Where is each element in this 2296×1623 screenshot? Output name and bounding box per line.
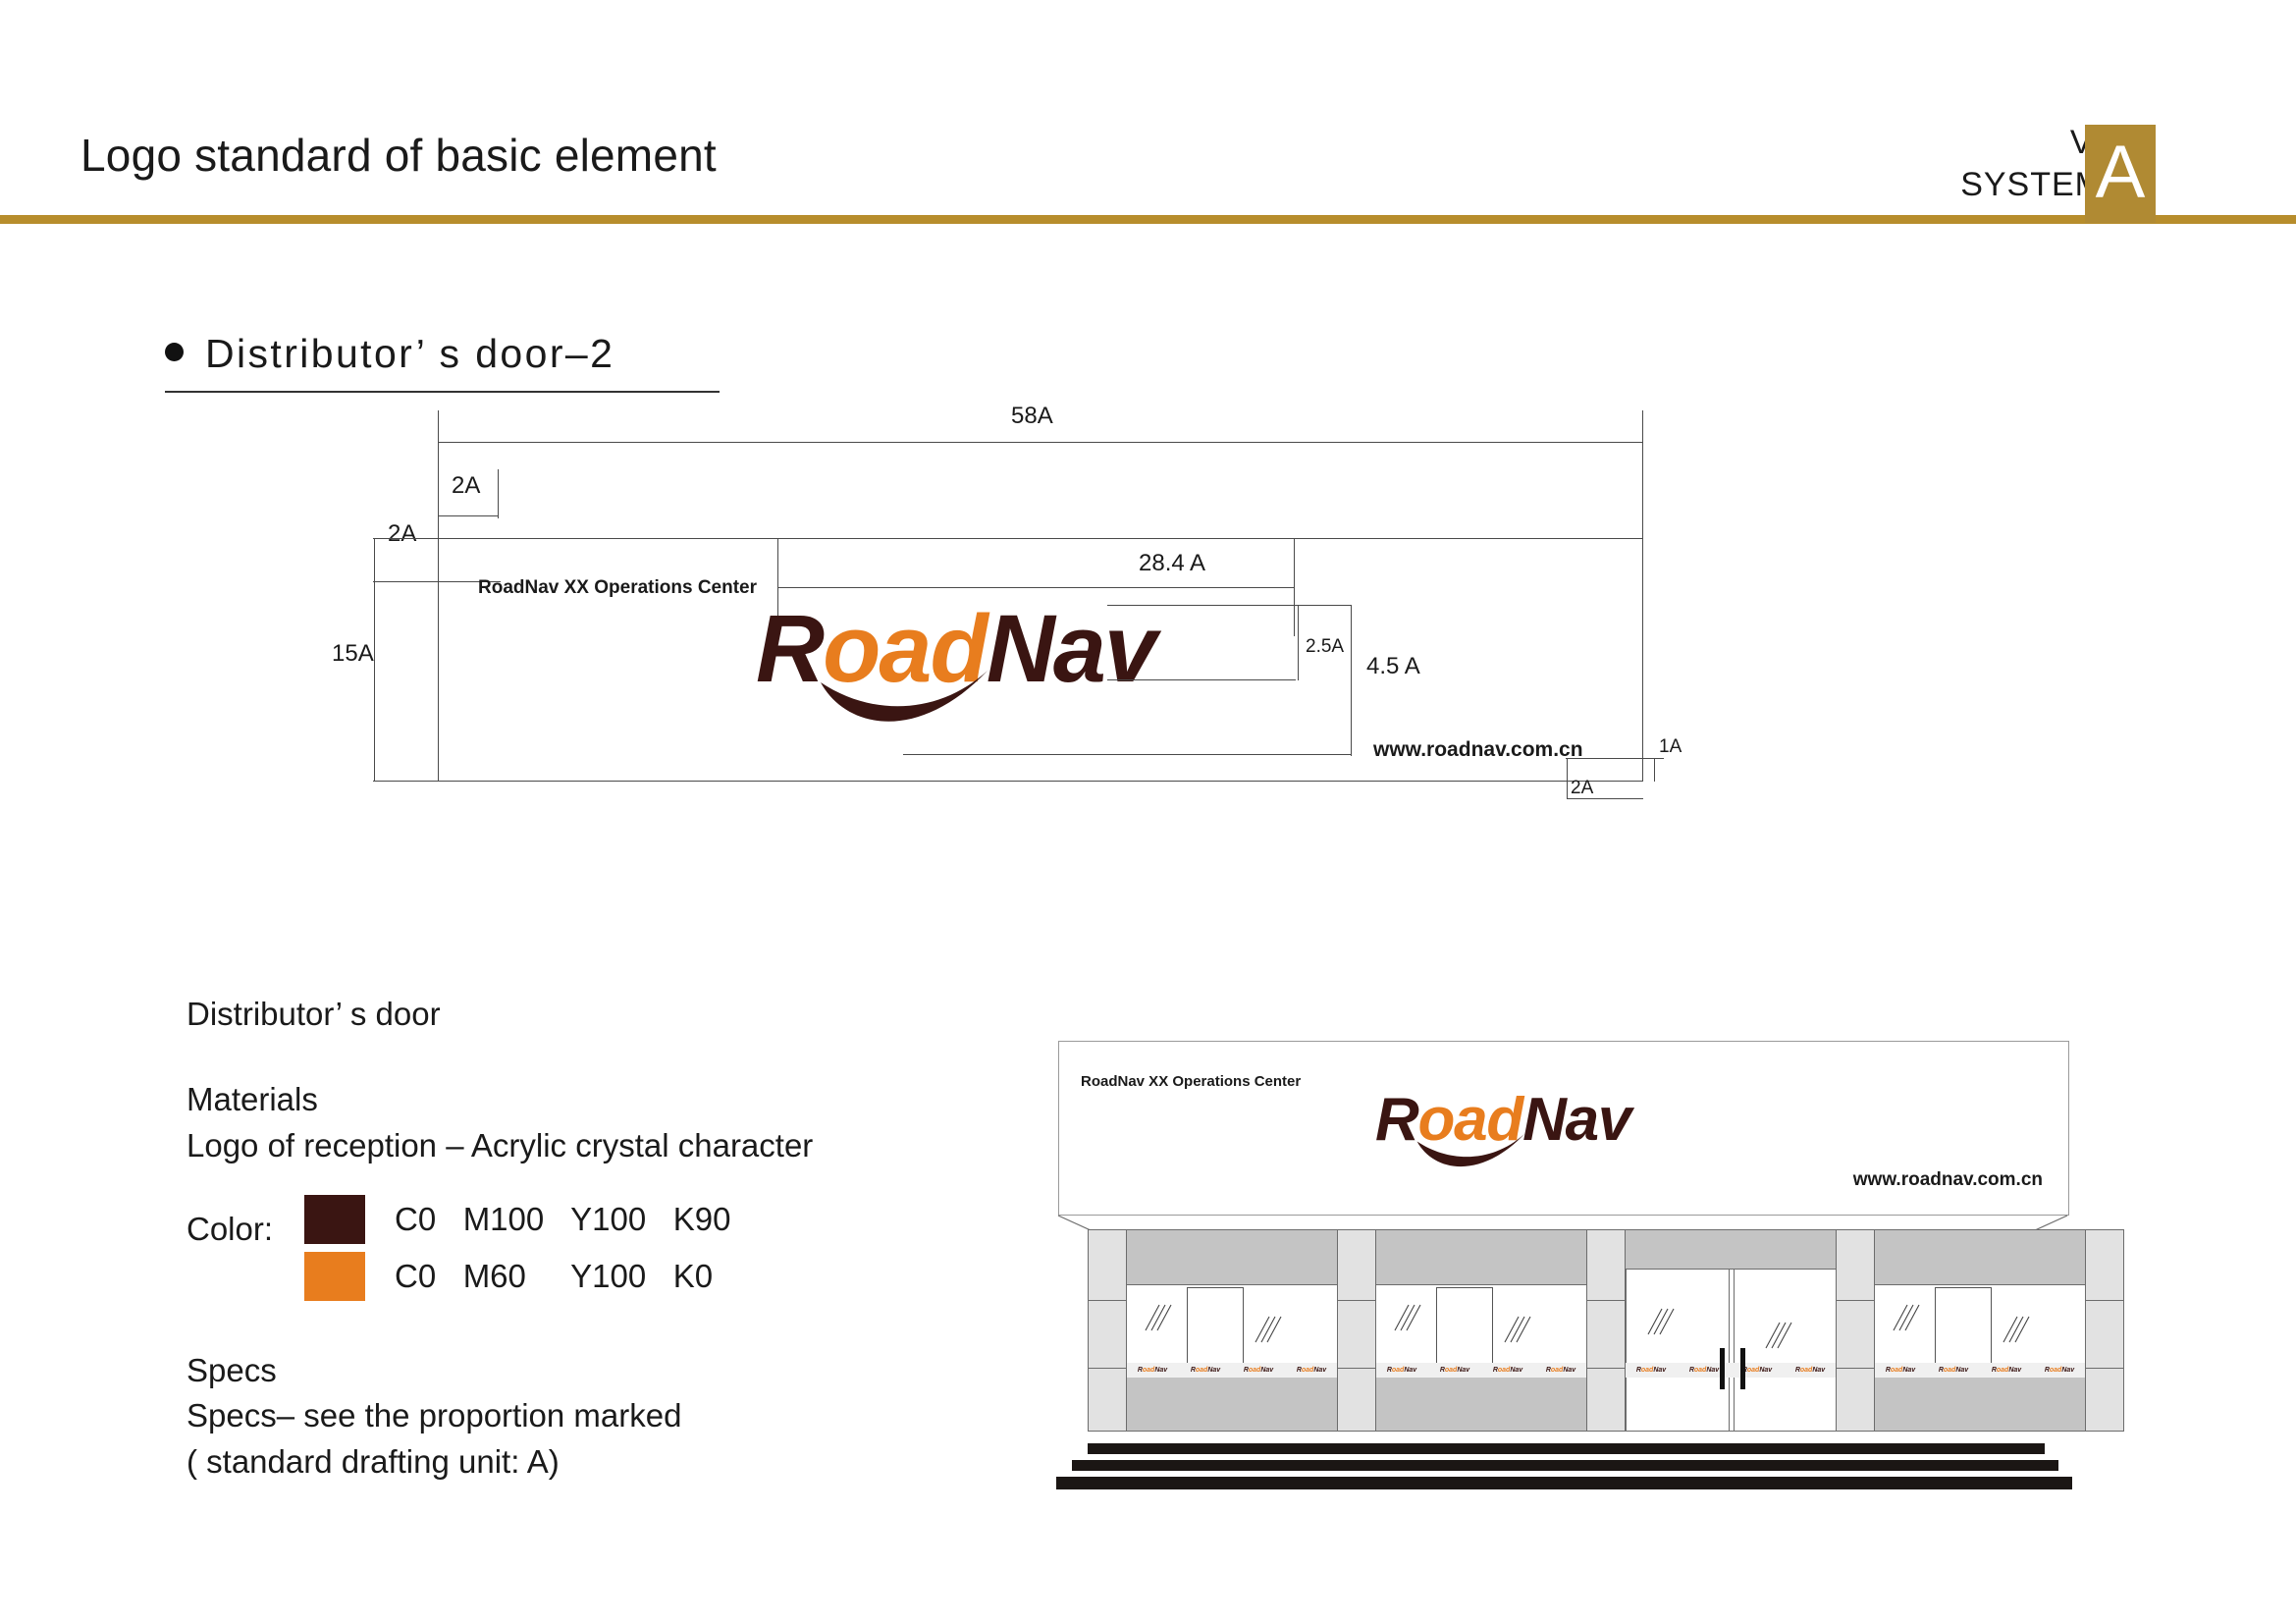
window-bay-1: RoadNav RoadNav RoadNav RoadNav (1125, 1229, 1339, 1432)
pillar-joint (2086, 1368, 2123, 1369)
color-swatch-item: C0 M100 Y100 K90 (304, 1195, 730, 1244)
mini-roadnav-logo: RoadNav (1297, 1367, 1326, 1374)
glass-reflection-icon (1644, 1303, 1683, 1342)
specification-text-block: Distributor’ s door Materials Logo of re… (187, 992, 991, 1486)
dim-tick-overall-left (438, 410, 439, 446)
glass-reflection-icon (1762, 1317, 1801, 1356)
entrance-doorway: RoadNav RoadNav RoadNav RoadNav (1624, 1229, 1838, 1432)
logo-letter-r: R (756, 595, 823, 702)
storefront-signboard: RoadNav XX Operations Center RoadNav www… (1058, 1041, 2069, 1216)
logo-letter-r: R (1375, 1086, 1418, 1154)
color-swatch-item: C0 M60 Y100 K0 (304, 1252, 730, 1301)
dim-tick-overall-right (1642, 410, 1643, 446)
storefront-sign-subtitle: RoadNav XX Operations Center (1081, 1073, 1301, 1090)
dim-label-left-inset: 2A (388, 520, 416, 548)
mini-roadnav-logo: RoadNav (1742, 1367, 1772, 1374)
glass-reflection-icon (1501, 1311, 1540, 1350)
dimension-drawing: 58A 2A 2A 15A RoadNav XX Operations Cent… (0, 412, 1767, 923)
dim-label-url-right-inset: 2A (1571, 778, 1593, 799)
dim-line-top-inset (438, 515, 499, 516)
mini-roadnav-logo: RoadNav (1244, 1367, 1273, 1374)
color-swatch-list: C0 M100 Y100 K90 C0 M60 Y100 K0 (304, 1195, 730, 1309)
dim-label-overall-height: 15A (332, 640, 374, 668)
dim-line-left-inset-top (373, 538, 1643, 539)
specs-line-2: ( standard drafting unit: A) (187, 1439, 991, 1486)
bay-bottom-spandrel (1126, 1374, 1338, 1431)
spec-title: Distributor’ s door (187, 992, 991, 1038)
page-title: Logo standard of basic element (80, 129, 717, 182)
signboard-bottom-edge (373, 781, 1643, 782)
vi-system-label: VI SYSTEM (1960, 126, 2104, 201)
dim-label-url-height: 1A (1659, 736, 1682, 758)
dim-line-total-bot (903, 754, 1351, 755)
pillar-1 (1088, 1229, 1127, 1432)
dim-line-cap-bot (1107, 679, 1296, 680)
window-bay-3: RoadNav RoadNav RoadNav RoadNav (1873, 1229, 2087, 1432)
pillar-joint (1837, 1368, 1874, 1369)
mini-roadnav-logo: RoadNav (1191, 1367, 1220, 1374)
dim-line-url-height (1654, 758, 1655, 782)
specs-line-1: Specs– see the proportion marked (187, 1393, 991, 1439)
pillar-joint (1338, 1368, 1375, 1369)
dim-label-logo-total-height: 4.5 A (1366, 653, 1420, 680)
bay-top-transom (1375, 1230, 1587, 1285)
signboard-left-edge (438, 442, 439, 781)
diagram-sign-subtitle: RoadNav XX Operations Center (478, 577, 757, 599)
color-swatch-orange (304, 1252, 365, 1301)
door-logo-band: RoadNav RoadNav RoadNav RoadNav (1625, 1363, 1837, 1378)
window-logo-band: RoadNav RoadNav RoadNav RoadNav (1126, 1363, 1338, 1378)
pillar-joint (2086, 1300, 2123, 1301)
door-leaf-left[interactable] (1626, 1270, 1730, 1432)
mini-roadnav-logo: RoadNav (1440, 1367, 1469, 1374)
glass-reflection-icon (1142, 1299, 1181, 1338)
dim-line-url-inset (1567, 798, 1643, 799)
window-inner-pane (1436, 1287, 1493, 1364)
specs-heading: Specs (187, 1348, 991, 1394)
mini-roadnav-logo: RoadNav (1689, 1367, 1719, 1374)
pillar-joint (1837, 1300, 1874, 1301)
storefront-elevation: RoadNav XX Operations Center RoadNav www… (1031, 1021, 2130, 1492)
mini-roadnav-logo: RoadNav (2045, 1367, 2074, 1374)
window-logo-band: RoadNav RoadNav RoadNav RoadNav (1375, 1363, 1587, 1378)
pillar-3 (1586, 1229, 1626, 1432)
dim-label-logo-width: 28.4 A (1139, 550, 1205, 577)
dim-line-cap-height (1298, 605, 1299, 680)
bay-top-transom (1874, 1230, 2086, 1285)
dim-tick-top-inset-right (498, 469, 499, 518)
storefront-facade: RoadNav RoadNav RoadNav RoadNav (1080, 1229, 2047, 1443)
dim-line-url-top (1566, 758, 1664, 759)
logo-letter-n: N (987, 595, 1053, 702)
mini-roadnav-logo: RoadNav (1939, 1367, 1968, 1374)
glass-reflection-icon (2000, 1311, 2039, 1350)
bay-bottom-spandrel (1375, 1374, 1587, 1431)
pillar-5 (2085, 1229, 2124, 1432)
pillar-joint (1089, 1300, 1126, 1301)
pillar-2 (1337, 1229, 1376, 1432)
glass-reflection-icon (1391, 1299, 1430, 1338)
mini-roadnav-logo: RoadNav (1636, 1367, 1666, 1374)
entrance-step-1 (1088, 1443, 2045, 1454)
roadnav-logo-storefront: RoadNav (1375, 1085, 1630, 1155)
spacer (187, 1309, 991, 1348)
logo-letter-n: N (1522, 1086, 1566, 1154)
entrance-step-3 (1056, 1477, 2072, 1489)
section-heading-label: Distributor’ s door–2 (205, 331, 614, 376)
bay-bottom-spandrel (1874, 1374, 2086, 1431)
header-accent-rule (0, 215, 2296, 224)
dim-line-overall-width (438, 442, 1643, 443)
section-heading: Distributor’ s door–2 (165, 331, 614, 377)
color-specification-row: Color: C0 M100 Y100 K90 C0 M60 Y100 K0 (187, 1195, 991, 1309)
window-inner-pane (1935, 1287, 1992, 1364)
pillar-joint (1089, 1368, 1126, 1369)
bay-top-transom (1126, 1230, 1338, 1285)
entrance-step-2 (1072, 1460, 2058, 1471)
dim-tick-url-inset-left (1567, 758, 1568, 799)
door-handle-left[interactable] (1720, 1348, 1725, 1389)
dim-label-overall-width: 58A (1011, 403, 1053, 430)
dim-tick-logo-right (1294, 538, 1295, 636)
mini-roadnav-logo: RoadNav (1992, 1367, 2021, 1374)
dim-line-cap-top (1107, 605, 1351, 606)
roadnav-logo-large: RoadNav (756, 594, 1155, 704)
window-bay-2: RoadNav RoadNav RoadNav RoadNav (1374, 1229, 1588, 1432)
mini-roadnav-logo: RoadNav (1138, 1367, 1167, 1374)
pillar-joint (1338, 1300, 1375, 1301)
color-values-orange: C0 M60 Y100 K0 (395, 1258, 713, 1295)
vi-line-1: VI (1960, 126, 2104, 159)
mini-roadnav-logo: RoadNav (1387, 1367, 1416, 1374)
logo-letters-av: av (1566, 1086, 1630, 1154)
mini-roadnav-logo: RoadNav (1795, 1367, 1825, 1374)
dim-line-total-height (1351, 605, 1352, 756)
color-values-dark-brown: C0 M100 Y100 K90 (395, 1201, 730, 1238)
spacer (187, 1038, 991, 1077)
materials-heading: Materials (187, 1077, 991, 1123)
color-swatch-dark-brown (304, 1195, 365, 1244)
mini-roadnav-logo: RoadNav (1546, 1367, 1575, 1374)
mini-roadnav-logo: RoadNav (1493, 1367, 1522, 1374)
dim-label-cap-height: 2.5A (1306, 636, 1344, 658)
logo-letter-d: d (930, 595, 986, 702)
window-logo-band: RoadNav RoadNav RoadNav RoadNav (1874, 1363, 2086, 1378)
color-label: Color: (187, 1195, 304, 1248)
pillar-joint (1587, 1368, 1625, 1369)
glass-reflection-icon (1890, 1299, 1929, 1338)
materials-text: Logo of reception – Acrylic crystal char… (187, 1123, 991, 1169)
vi-line-2: SYSTEM (1960, 168, 2104, 201)
dim-label-top-inset: 2A (452, 472, 480, 500)
door-handle-right[interactable] (1740, 1348, 1745, 1389)
dim-line-logo-width (777, 587, 1294, 588)
logo-letter-d: d (1486, 1086, 1522, 1154)
section-underline (165, 391, 720, 393)
window-inner-pane (1187, 1287, 1244, 1364)
diagram-sign-url: www.roadnav.com.cn (1373, 738, 1583, 762)
bullet-dot-icon (165, 343, 184, 361)
pillar-4 (1836, 1229, 1875, 1432)
mini-roadnav-logo: RoadNav (1886, 1367, 1915, 1374)
glass-reflection-icon (1252, 1311, 1291, 1350)
logo-letters-oa: oa (1418, 1086, 1487, 1154)
logo-letters-av: av (1053, 595, 1155, 702)
pillar-joint (1587, 1300, 1625, 1301)
page-header: Logo standard of basic element VI SYSTEM… (0, 0, 2296, 228)
signboard-right-edge (1642, 442, 1643, 781)
logo-letters-oa: oa (823, 595, 930, 702)
vi-section-letter-badge: A (2085, 125, 2156, 223)
doorway-top-transom (1625, 1230, 1837, 1270)
storefront-sign-url: www.roadnav.com.cn (1853, 1169, 2043, 1191)
dim-line-overall-height (374, 538, 375, 782)
